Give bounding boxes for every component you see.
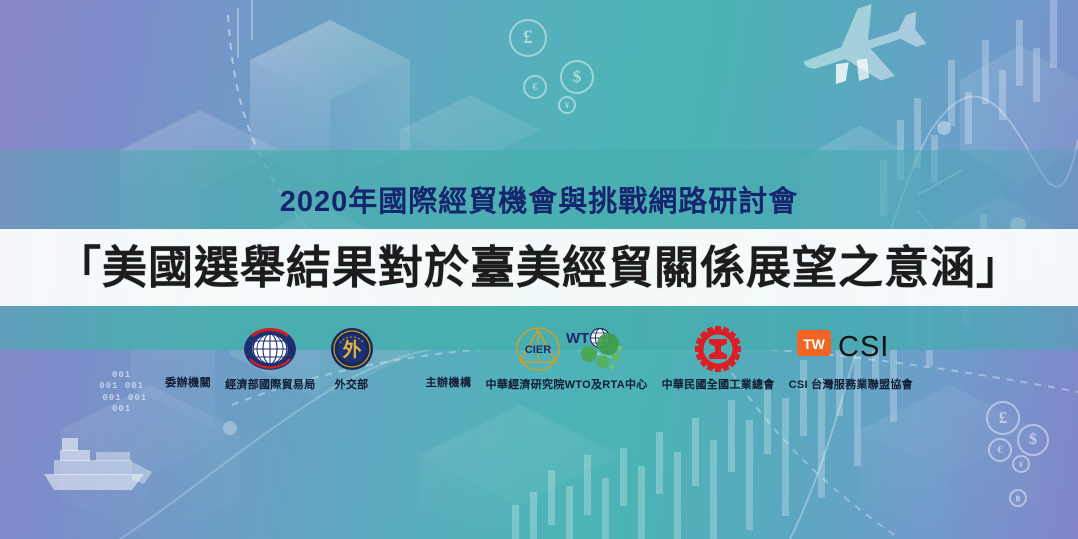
csi-tw-label: TW: [803, 336, 826, 352]
organizers-row: 委辦機關: [0, 326, 1078, 412]
coin-pound-top: £: [509, 19, 547, 57]
coin-baht-bottom: ฿: [1009, 489, 1027, 507]
coin-dollar-bottom: $: [1017, 424, 1049, 456]
wto-label: WT: [566, 330, 589, 347]
org-caption-cier: 中華經濟研究院WTO及RTA中心: [486, 376, 648, 392]
cier-wto-svg: CIER WT: [508, 326, 626, 372]
commissioned-group: 委辦機關: [165, 326, 373, 392]
coin-dollar-top: $: [560, 60, 594, 94]
org-item-mofa: 外 外交部: [330, 326, 374, 392]
org-item-boft: 經濟部國際貿易局: [225, 326, 315, 392]
boft-globe-svg: [243, 327, 297, 371]
csi-label: CSI: [838, 331, 889, 363]
commissioned-label: 委辦機關: [165, 374, 211, 392]
event-main-title: 「美國選舉結果對於臺美經貿關係展望之意涵」: [56, 245, 1022, 290]
org-caption-boft: 經濟部國際貿易局: [225, 376, 315, 392]
org-item-cnfi: 中華民國全國工業總會: [662, 326, 775, 392]
hosts-group: 主辦機構 CIER WT: [426, 326, 913, 392]
title-band: 「美國選舉結果對於臺美經貿關係展望之意涵」: [0, 229, 1078, 306]
mofa-emblem-icon: 外: [330, 326, 374, 372]
csi-icon: TW CSI: [796, 326, 906, 372]
org-item-csi: TW CSI CSI 台灣服務業聯盟協會: [789, 326, 913, 392]
svg-text:外: 外: [342, 338, 361, 361]
coin-euro-top: €: [523, 75, 547, 99]
org-caption-mofa: 外交部: [335, 376, 369, 392]
cier-label: CIER: [524, 344, 550, 356]
org-item-cier-wto: CIER WT: [486, 326, 648, 392]
cier-wto-icon: CIER WT: [508, 326, 626, 372]
boft-globe-icon: [243, 326, 297, 372]
org-caption-csi: CSI 台灣服務業聯盟協會: [789, 376, 913, 392]
cnfi-gear-icon: [695, 326, 741, 372]
airplane-icon: [793, 0, 933, 101]
mofa-emblem-svg: 外: [330, 327, 374, 371]
subtitle-container: 2020年國際經貿機會與挑戰網路研討會: [0, 181, 1078, 223]
coin-yen-top: ¥: [558, 96, 576, 114]
cnfi-gear-svg: [695, 326, 741, 372]
cargo-ship-icon: [44, 438, 152, 490]
hosts-label: 主辦機構: [426, 374, 472, 392]
coin-yen-bottom: ¥: [1012, 455, 1030, 473]
webinar-banner: 001001 001 001 001001 £ $ € ¥ £ $ € ¥ ฿ …: [0, 0, 1078, 539]
org-caption-cnfi: 中華民國全國工業總會: [662, 376, 775, 392]
event-subtitle: 2020年國際經貿機會與挑戰網路研討會: [280, 188, 799, 217]
coin-euro-bottom: €: [988, 438, 1012, 462]
csi-svg: TW CSI: [796, 326, 906, 372]
